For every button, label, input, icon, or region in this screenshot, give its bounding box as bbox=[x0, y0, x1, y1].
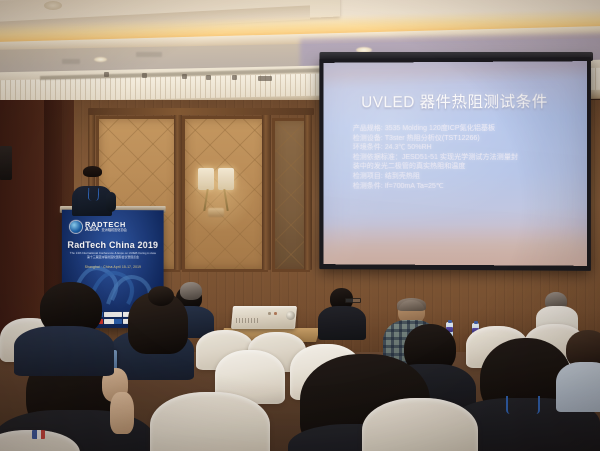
logo-line-2: ASIA 亚洲辐射固化协会 bbox=[85, 228, 127, 234]
panel-frame bbox=[304, 114, 312, 270]
ceiling-light-fixture bbox=[44, 1, 62, 10]
bottle-cap bbox=[448, 320, 452, 323]
projector-lens bbox=[286, 311, 295, 320]
downlight-icon bbox=[94, 57, 107, 62]
eyeglasses bbox=[345, 298, 361, 303]
forearm bbox=[110, 392, 134, 434]
sponsor-logo bbox=[104, 319, 121, 324]
track-light-head bbox=[182, 74, 187, 79]
projector-vent bbox=[236, 318, 258, 323]
slide-body-text: 产品规格: 3535 Molding 120度ICP氮化铝基板 检测设备: T3… bbox=[353, 124, 577, 192]
ceiling-vent bbox=[62, 59, 80, 64]
track-light-head bbox=[104, 72, 109, 77]
sconce-shade-right bbox=[218, 168, 234, 190]
panel-frame bbox=[174, 112, 182, 270]
sconce-base bbox=[208, 208, 224, 217]
slide-line: 装中的发光二极管的真实热阻和温度 bbox=[353, 162, 577, 172]
radtech-asia-logo: RADTECH ASIA 亚洲辐射固化协会 bbox=[70, 219, 156, 235]
audience-torso bbox=[14, 326, 114, 376]
slide-title: UVLED 器件热阻测试条件 bbox=[323, 89, 587, 112]
projection-screen: UVLED 器件热阻测试条件 产品规格: 3535 Molding 120度IC… bbox=[323, 61, 587, 266]
flag-patch-icon bbox=[32, 430, 45, 439]
banquet-chair bbox=[150, 392, 270, 451]
track-light-head bbox=[206, 75, 211, 80]
globe-icon bbox=[70, 221, 82, 233]
track-light-head bbox=[232, 75, 237, 80]
pa-speaker bbox=[0, 146, 12, 180]
bottle-cap bbox=[474, 321, 478, 324]
audience-torso bbox=[556, 362, 600, 412]
sponsor-logo bbox=[104, 312, 121, 317]
slide-line: 产品规格: 3535 Molding 120度ICP氮化铝基板 bbox=[353, 124, 577, 134]
banquet-chair bbox=[362, 398, 478, 451]
audience-head bbox=[180, 282, 202, 300]
projector-indicator bbox=[268, 312, 271, 315]
track-light-head bbox=[258, 76, 272, 81]
sconce-shade-left bbox=[198, 168, 214, 190]
lanyard bbox=[506, 396, 540, 414]
panel-frame bbox=[262, 112, 271, 270]
projector-indicator bbox=[274, 312, 277, 315]
slide-line: 检测项目: 结到壳热阻 bbox=[353, 172, 577, 182]
event-subtitle-zh: 第十三届亚洲辐射固化国际会议暨展览会 bbox=[87, 255, 139, 259]
slide-line: 检测条件: If=700mA Ta=25℃ bbox=[353, 181, 577, 191]
logo-text: RADTECH ASIA 亚洲辐射固化协会 bbox=[85, 220, 127, 233]
panel-frame-top bbox=[88, 108, 314, 115]
conference-room-photo: UVLED 器件热阻测试条件 产品规格: 3535 Molding 120度IC… bbox=[0, 0, 600, 451]
audience-torso bbox=[318, 306, 366, 340]
screen-warm-falloff bbox=[323, 225, 587, 266]
event-subtitle: The 13th International Conference & Expo… bbox=[68, 251, 158, 260]
slide-line: 检测设备: T3ster 热阻分析仪(TST12266) bbox=[353, 133, 577, 143]
ceiling-vent bbox=[136, 52, 162, 57]
presenter-lanyard bbox=[88, 188, 99, 201]
slide-line: 环境条件: 24.3℃ 50%RH bbox=[353, 143, 577, 153]
logo-asia-text: ASIA bbox=[85, 228, 100, 233]
event-title: RadTech China 2019 bbox=[62, 240, 164, 250]
hair-bun bbox=[148, 286, 174, 306]
event-date-location: Shanghai · China April 15-17, 2019 bbox=[68, 265, 158, 269]
audience-hair bbox=[397, 298, 426, 311]
presenter-hair bbox=[83, 166, 102, 177]
track-light-head bbox=[142, 73, 147, 78]
logo-chinese-subtext: 亚洲辐射固化协会 bbox=[101, 229, 126, 232]
presenter-arm bbox=[106, 192, 116, 212]
slide-line: 检测依据标准：JESD51-51 实现光学测试方法测量封 bbox=[353, 153, 577, 163]
wall-sconce-lamp bbox=[196, 168, 240, 224]
